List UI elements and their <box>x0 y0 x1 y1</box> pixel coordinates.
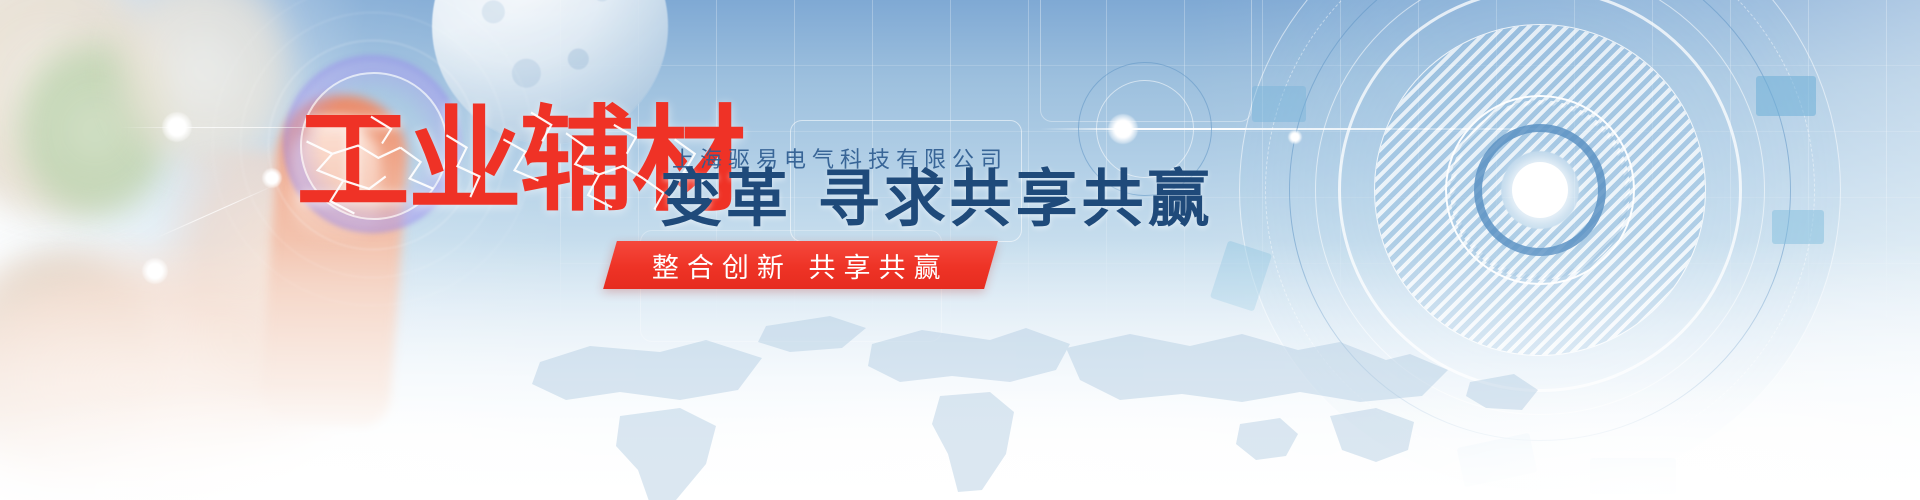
hud-segment-3 <box>1252 86 1306 122</box>
slogan-ribbon-label: 整合创新 共享共赢 <box>652 246 949 285</box>
world-map-silhouette <box>470 304 1550 500</box>
hero-banner: 工业辅材 上海驱易 <box>0 0 1920 500</box>
hud-segment-2 <box>1772 210 1824 244</box>
subheadline: 变革 寻求共享共赢 <box>660 168 1214 230</box>
slogan-ribbon: 整合创新 共享共赢 <box>603 241 997 289</box>
hud-dot-1 <box>1288 130 1302 144</box>
connector-node-1 <box>162 112 192 142</box>
hud-segment-1 <box>1756 76 1816 116</box>
hud-center-hub <box>1512 162 1568 218</box>
